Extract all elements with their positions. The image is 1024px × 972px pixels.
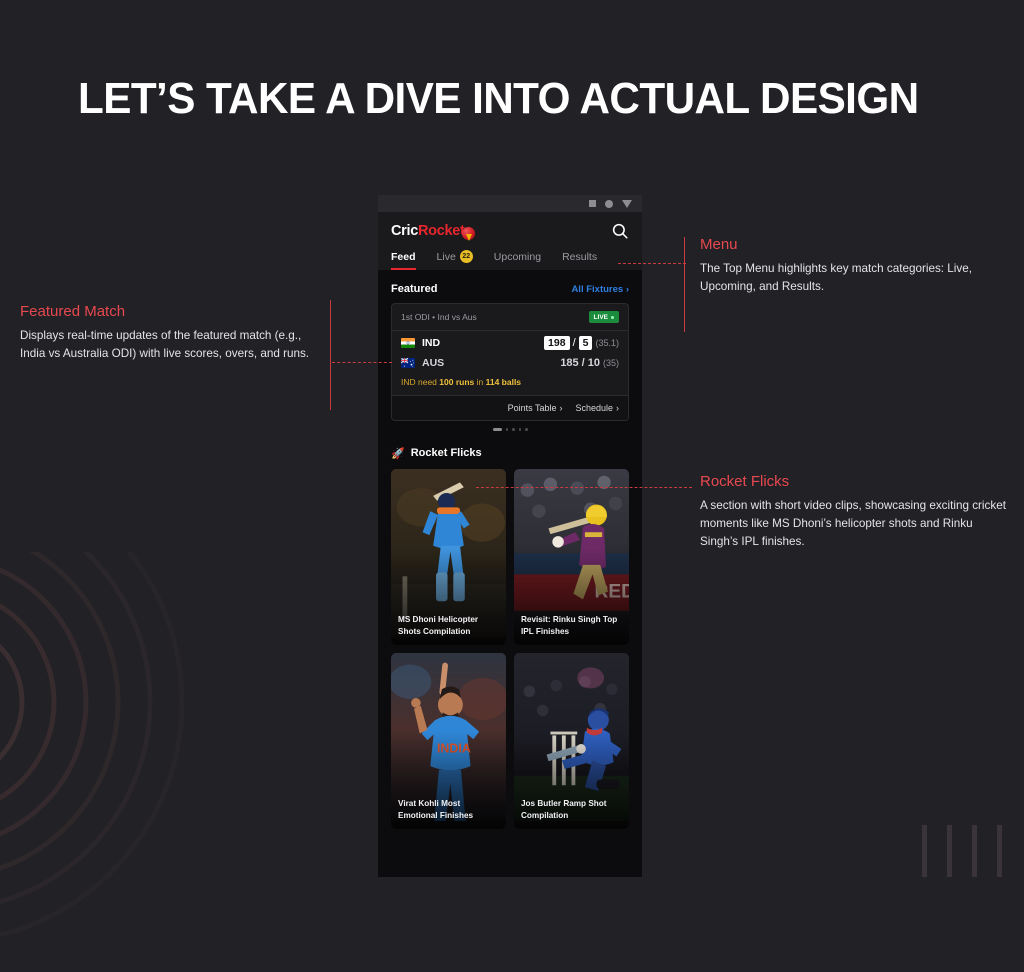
overs-value: (35.1): [595, 338, 619, 348]
wickets-value: 10: [588, 357, 600, 369]
rocket-flicks-header: 🚀 Rocket Flicks: [378, 431, 642, 469]
circle-icon[interactable]: [605, 200, 613, 208]
table-row: IND 198 / 5 (35.1): [392, 331, 628, 352]
android-nav-bar: [378, 195, 642, 212]
carousel-dot[interactable]: [525, 428, 528, 431]
annotation-connector-featured: [332, 362, 392, 363]
list-item-caption: Jos Butler Ramp Shot Compilation: [521, 798, 622, 821]
app-header: CricRocket Feed Live 22 Upcoming Results: [378, 212, 642, 270]
annotation-connector-menu: [618, 263, 686, 264]
team-code: IND: [422, 337, 440, 349]
tab-results-label: Results: [562, 251, 597, 263]
all-fixtures-label: All Fixtures: [571, 284, 623, 295]
schedule-label: Schedule: [575, 403, 613, 413]
target-requirement-text: IND need 100 runs in 114 balls: [392, 371, 628, 395]
overs-value: (35): [603, 358, 619, 368]
annotation-rule-right: [684, 237, 685, 332]
carousel-dot-active[interactable]: [493, 428, 502, 431]
live-status-badge: LIVE: [589, 311, 619, 323]
annotation-title: Featured Match: [20, 303, 320, 320]
featured-match-card[interactable]: 1st ODI • Ind vs Aus LIVE IND 198 / 5: [391, 303, 629, 421]
triangle-icon[interactable]: [622, 200, 632, 208]
match-card-actions: Points Table › Schedule ›: [392, 395, 628, 420]
live-count-badge: 22: [460, 250, 473, 263]
annotation-rule-left: [330, 300, 331, 410]
decorative-rings: [0, 552, 302, 972]
chevron-right-icon: ›: [616, 403, 619, 413]
points-table-button[interactable]: Points Table ›: [508, 403, 563, 413]
phone-mockup: CricRocket Feed Live 22 Upcoming Results…: [378, 195, 642, 877]
target-balls: 114 balls: [486, 377, 521, 387]
carousel-dot[interactable]: [506, 428, 509, 431]
carousel-dot[interactable]: [519, 428, 522, 431]
featured-section-header: Featured All Fixtures ›: [378, 270, 642, 303]
page-title: LET’S TAKE A DIVE INTO ACTUAL DESIGN: [78, 74, 919, 124]
square-icon[interactable]: [589, 200, 596, 207]
annotation-connector-flicks: [476, 487, 692, 488]
list-item[interactable]: Jos Butler Ramp Shot Compilation: [514, 653, 629, 829]
annotation-rocket-flicks: Rocket Flicks A section with short video…: [700, 473, 1010, 551]
table-row: AUS 185 / 10 (35): [392, 352, 628, 371]
target-prefix: IND need: [401, 377, 439, 387]
list-item-caption: Virat Kohli Most Emotional Finishes: [398, 798, 499, 821]
match-card-header: 1st ODI • Ind vs Aus LIVE: [392, 304, 628, 331]
list-item-caption: Revisit: Rinku Singh Top IPL Finishes: [521, 614, 622, 637]
app-topline: CricRocket: [391, 222, 629, 250]
rocket-flicks-grid: MS Dhoni Helicopter Shots Compilation RE…: [378, 469, 642, 829]
live-badge-label: LIVE: [594, 314, 608, 321]
live-dot-icon: [611, 316, 614, 319]
team-score: 198 / 5 (35.1): [544, 336, 619, 350]
featured-title: Featured: [391, 283, 437, 295]
chevron-right-icon: ›: [626, 284, 629, 295]
annotation-menu: Menu The Top Menu highlights key match c…: [700, 236, 995, 296]
schedule-button[interactable]: Schedule ›: [575, 403, 619, 413]
decorative-bars: [922, 825, 1002, 877]
annotation-body: A section with short video clips, showca…: [700, 497, 1010, 551]
annotation-title: Menu: [700, 236, 995, 253]
score-separator: /: [573, 337, 576, 349]
annotation-body: The Top Menu highlights key match catego…: [700, 260, 995, 296]
points-table-label: Points Table: [508, 403, 557, 413]
app-logo[interactable]: CricRocket: [391, 223, 481, 239]
flame-icon: [466, 234, 472, 241]
rocket-icon: 🚀: [391, 447, 405, 460]
list-item-caption: MS Dhoni Helicopter Shots Compilation: [398, 614, 499, 637]
annotation-featured-match: Featured Match Displays real-time update…: [20, 303, 320, 363]
score-separator: /: [582, 357, 585, 369]
tab-results[interactable]: Results: [562, 251, 597, 270]
tab-live[interactable]: Live 22: [437, 250, 473, 270]
logo-text-secondary: Rocket: [418, 223, 465, 239]
all-fixtures-link[interactable]: All Fixtures ›: [571, 284, 629, 295]
runs-value: 198: [544, 336, 570, 350]
australia-flag-icon: [401, 358, 415, 368]
team-code: AUS: [422, 357, 444, 369]
tab-feed-label: Feed: [391, 251, 416, 263]
chevron-right-icon: ›: [559, 403, 562, 413]
india-flag-icon: [401, 338, 415, 348]
logo-text-primary: Cric: [391, 223, 418, 239]
wickets-value: 5: [579, 336, 593, 350]
list-item[interactable]: MS Dhoni Helicopter Shots Compilation: [391, 469, 506, 645]
match-meta: 1st ODI • Ind vs Aus: [401, 312, 477, 322]
annotation-body: Displays real-time updates of the featur…: [20, 327, 320, 363]
team-score: 185 / 10 (35): [560, 357, 619, 369]
top-menu-tabs: Feed Live 22 Upcoming Results: [391, 250, 629, 270]
list-item[interactable]: INDIA Virat Kohli Most Emotional Finishe…: [391, 653, 506, 829]
tab-live-label: Live: [437, 251, 456, 263]
search-icon[interactable]: [611, 222, 629, 240]
tab-upcoming[interactable]: Upcoming: [494, 251, 541, 270]
list-item[interactable]: RED Revisit: Rinku Singh Top IPL Finishe…: [514, 469, 629, 645]
carousel-dots[interactable]: [378, 421, 642, 431]
runs-value: 185: [560, 357, 578, 369]
rocket-flicks-title: Rocket Flicks: [411, 447, 482, 459]
target-mid: in: [474, 377, 485, 387]
tab-upcoming-label: Upcoming: [494, 251, 541, 263]
annotation-title: Rocket Flicks: [700, 473, 1010, 490]
target-runs: 100 runs: [439, 377, 474, 387]
carousel-dot[interactable]: [512, 428, 515, 431]
tab-feed[interactable]: Feed: [391, 251, 416, 270]
